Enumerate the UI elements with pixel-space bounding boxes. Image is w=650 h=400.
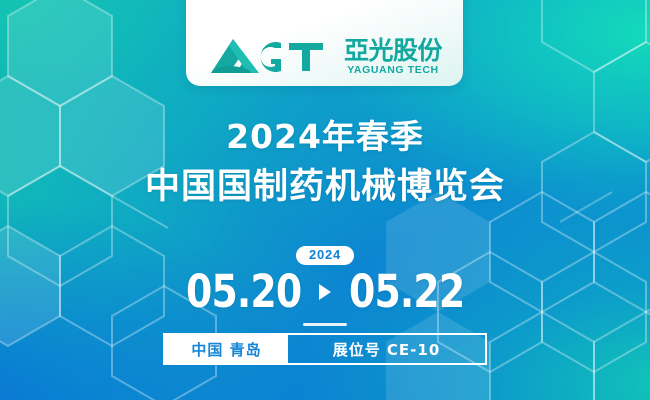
date-start: 05.20 (186, 269, 301, 314)
date-block: 2024 05.20 05.22 (0, 246, 650, 326)
date-range: 05.20 05.22 (175, 269, 476, 314)
logo-text-block: 亞光股份 YAGUANG TECH (344, 38, 442, 76)
agt-wordmark-icon (207, 37, 335, 77)
logo-company-en: YAGUANG TECH (344, 65, 442, 76)
year-badge: 2024 (296, 246, 354, 265)
date-end: 05.22 (349, 269, 464, 314)
footer-location: 中国 青岛 (165, 335, 288, 363)
logo-card: 亞光股份 YAGUANG TECH (186, 0, 463, 86)
headline-line-1: 2024年春季 (0, 116, 650, 157)
exhibition-banner: 亞光股份 YAGUANG TECH 2024年春季 中国国制药机械博览会 202… (0, 0, 650, 400)
date-divider (303, 323, 347, 326)
logo-lockup: 亞光股份 YAGUANG TECH (207, 37, 442, 77)
headline-line-2: 中国国制药机械博览会 (0, 165, 650, 210)
footer-booth: 展位号 CE-10 (288, 335, 485, 363)
triangle-right-icon (319, 284, 331, 300)
headline: 2024年春季 中国国制药机械博览会 (0, 116, 650, 210)
logo-company-cn: 亞光股份 (344, 38, 442, 63)
footer-bar: 中国 青岛 展位号 CE-10 (163, 333, 487, 365)
